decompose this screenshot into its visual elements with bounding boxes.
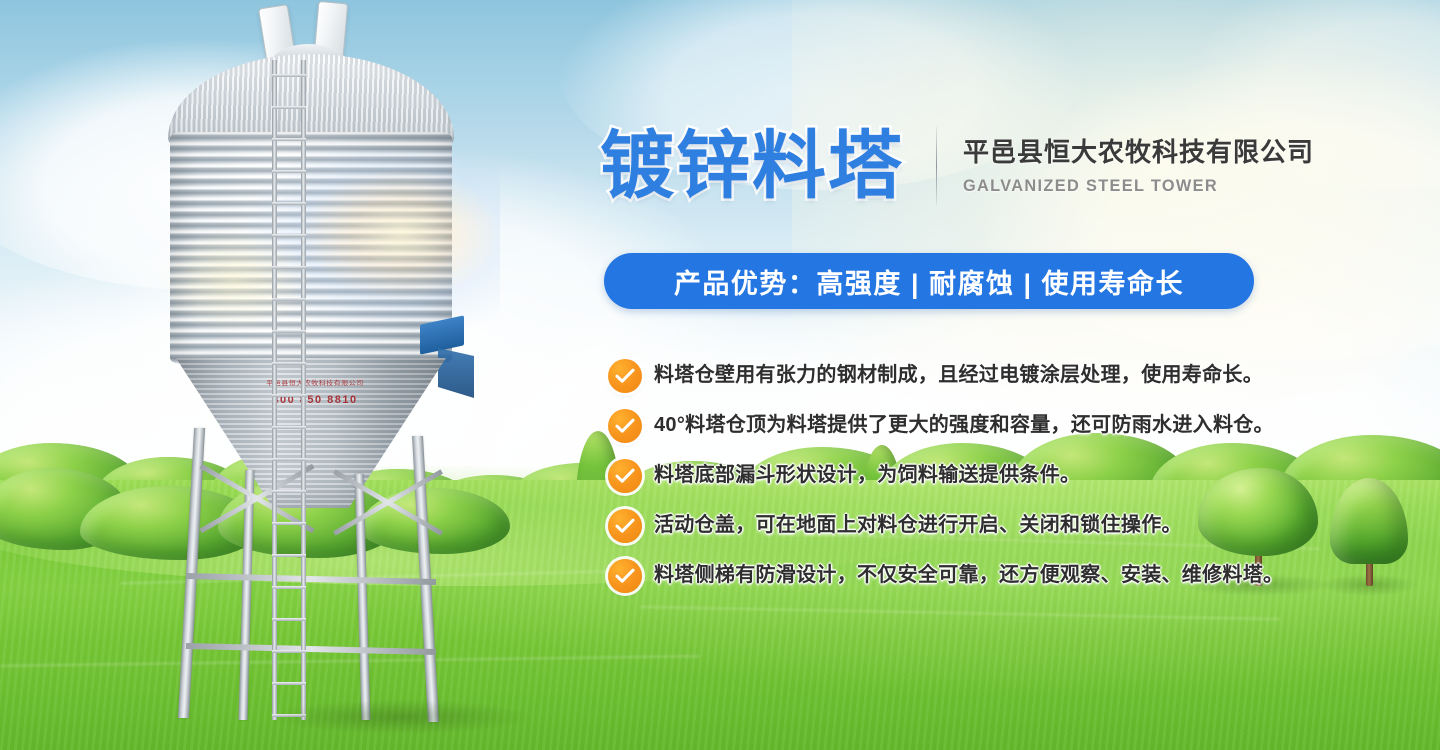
product-advantages-pill: 产品优势：高强度 | 耐腐蚀 | 使用寿命长 — [604, 253, 1254, 309]
banner-content: 镀锌料塔 平邑县恒大农牧科技有限公司 GALVANIZED STEEL TOWE… — [600, 0, 1440, 750]
check-circle-icon — [608, 459, 642, 493]
check-circle-icon — [608, 409, 642, 443]
silo-ground-shadow — [270, 700, 530, 734]
product-advantages-text: 产品优势：高强度 | 耐腐蚀 | 使用寿命长 — [674, 262, 1184, 301]
feature-text: 料塔底部漏斗形状设计，为饲料输送提供条件。 — [654, 458, 1080, 492]
feature-list: 料塔仓壁用有张力的钢材制成，且经过电镀涂层处理，使用寿命长。 40°料塔仓顶为料… — [608, 358, 1438, 608]
silo-access-ladder — [272, 60, 306, 720]
silo-discharge-cone — [176, 358, 446, 508]
feature-text: 料塔仓壁用有张力的钢材制成，且经过电镀涂层处理，使用寿命长。 — [654, 358, 1263, 392]
feature-item: 料塔底部漏斗形状设计，为饲料输送提供条件。 — [608, 458, 1438, 508]
title-divider — [936, 127, 937, 205]
feature-item: 料塔侧梯有防滑设计，不仅安全可靠，还方便观察、安装、维修料塔。 — [608, 558, 1438, 608]
silo-horizontal-brace — [186, 573, 436, 585]
feature-item: 40°料塔仓顶为料塔提供了更大的强度和容量，还可防雨水进入料仓。 — [608, 408, 1438, 458]
galvanized-feed-silo-image: 平邑县恒大农牧科技有限公司 400 850 8810 — [120, 0, 520, 750]
company-subtitle-en: GALVANIZED STEEL TOWER — [963, 176, 1300, 196]
feature-item: 活动仓盖，可在地面上对料仓进行开启、关闭和锁住操作。 — [608, 508, 1438, 558]
check-circle-icon — [608, 559, 642, 593]
check-circle-icon — [608, 359, 642, 393]
feature-text: 活动仓盖，可在地面上对料仓进行开启、关闭和锁住操作。 — [654, 508, 1182, 542]
feature-text: 料塔侧梯有防滑设计，不仅安全可靠，还方便观察、安装、维修料塔。 — [654, 558, 1283, 592]
silo-horizontal-brace — [186, 643, 436, 655]
feature-text: 40°料塔仓顶为料塔提供了更大的强度和容量，还可防雨水进入料仓。 — [654, 408, 1274, 442]
silo-body — [170, 132, 452, 364]
feature-item: 料塔仓壁用有张力的钢材制成，且经过电镀涂层处理，使用寿命长。 — [608, 358, 1438, 408]
product-hero-banner: 平邑县恒大农牧科技有限公司 400 850 8810 — [0, 0, 1440, 750]
company-block: 平邑县恒大农牧科技有限公司 GALVANIZED STEEL TOWER — [963, 136, 1314, 197]
check-circle-icon — [608, 509, 642, 543]
company-name: 平邑县恒大农牧科技有限公司 — [963, 136, 1314, 169]
page-title: 镀锌料塔 — [600, 129, 904, 203]
headline-row: 镀锌料塔 平邑县恒大农牧科技有限公司 GALVANIZED STEEL TOWE… — [600, 118, 1314, 214]
silo-blue-chute — [438, 348, 474, 398]
